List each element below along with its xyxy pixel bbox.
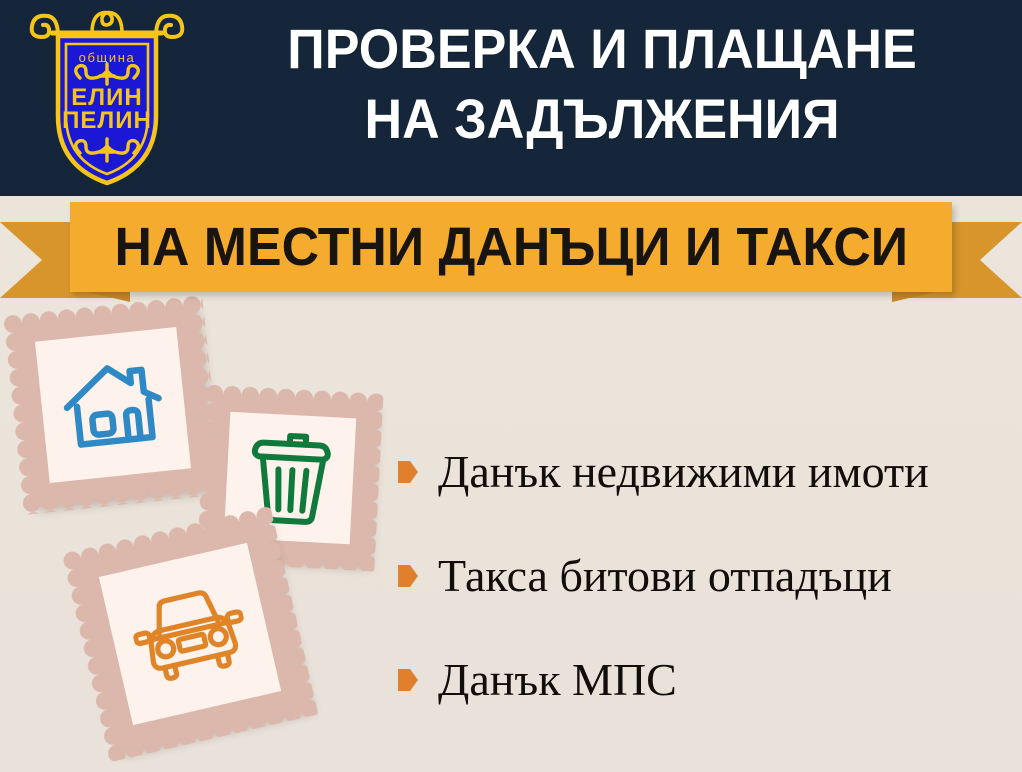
house-icon xyxy=(56,352,169,458)
title-line-2: НА ЗАДЪЛЖЕНИЯ xyxy=(224,84,979,154)
ribbon-main-band: НА МЕСТНИ ДАНЪЦИ И ТАКСИ xyxy=(70,202,952,292)
poster-canvas: община ЕЛИН ПЕЛИН xyxy=(0,0,1022,772)
stamp-card-house xyxy=(13,305,213,505)
page-title: ПРОВЕРКА И ПЛАЩАНЕ НА ЗАДЪЛЖЕНИЯ xyxy=(196,14,1008,154)
ribbon-banner: НА МЕСТНИ ДАНЪЦИ И ТАКСИ xyxy=(0,196,1022,306)
stamp-inner-house xyxy=(35,327,191,483)
list-item-label: Такса битови отпадъци xyxy=(438,553,892,599)
list-item-label: Данък МПС xyxy=(438,657,677,703)
crest-name-line-2: ПЕЛИН xyxy=(62,107,152,134)
ribbon-label: НА МЕСТНИ ДАНЪЦИ И ТАКСИ xyxy=(114,216,908,278)
list-item[interactable]: Данък МПС xyxy=(398,628,1008,732)
arrow-bullet-icon xyxy=(398,669,418,691)
trash-icon xyxy=(244,428,337,528)
arrow-bullet-icon xyxy=(398,461,418,483)
list-item[interactable]: Данък недвижими имоти xyxy=(398,420,1008,524)
arrow-bullet-icon xyxy=(398,565,418,587)
list-item-label: Данък недвижими имоти xyxy=(438,449,929,495)
tax-type-list: Данък недвижими имоти Такса битови отпад… xyxy=(398,420,1008,732)
header-bar: община ЕЛИН ПЕЛИН xyxy=(0,0,1022,196)
stamp-inner-car xyxy=(99,543,281,725)
stamp-cards-group xyxy=(0,300,430,772)
crest-shield-icon: община ЕЛИН ПЕЛИН xyxy=(22,6,192,191)
municipality-crest: община ЕЛИН ПЕЛИН xyxy=(22,6,192,191)
list-item[interactable]: Такса битови отпадъци xyxy=(398,524,1008,628)
title-line-1: ПРОВЕРКА И ПЛАЩАНЕ xyxy=(224,14,979,84)
car-icon xyxy=(126,580,254,689)
